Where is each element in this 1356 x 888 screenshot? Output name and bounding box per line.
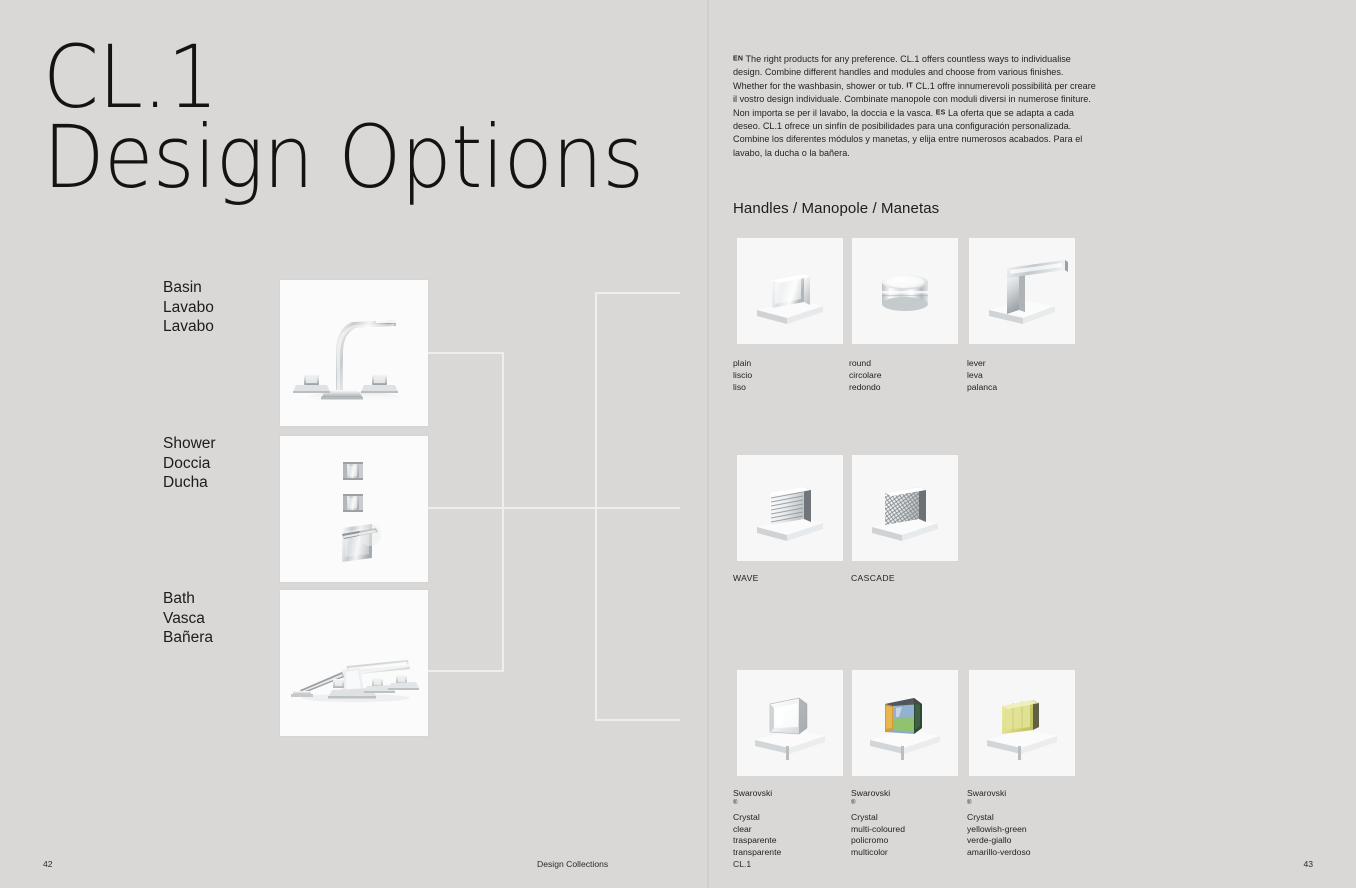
crystal-clear-product: Crystal — [733, 812, 781, 824]
crystal-multi-photo — [852, 670, 958, 776]
handle-plain-photo — [737, 238, 843, 344]
shower-module-photo — [280, 436, 428, 582]
handle-caption-lever: lever leva palanca — [967, 358, 997, 394]
intro-paragraph: EN The right products for any preference… — [733, 53, 1098, 160]
registered-mark-icon: ® — [967, 800, 971, 806]
registered-mark-icon: ® — [851, 800, 855, 806]
crystal-clear-photo — [737, 670, 843, 776]
crystal-yellow-product: Crystal — [967, 812, 1031, 824]
basin-mixer-photo — [280, 280, 428, 426]
footer-collection-label: CL.1 — [733, 859, 751, 869]
handle-cascade-photo — [852, 455, 958, 561]
page-title-line-2: Design Options — [43, 118, 644, 198]
category-bath-it: Vasca — [163, 609, 213, 629]
product-tile-bath[interactable] — [280, 590, 428, 736]
crystal-multi-brand: Swarovski — [851, 788, 905, 800]
handle-cascade-label: CASCADE — [851, 573, 895, 585]
product-tile-basin[interactable] — [280, 280, 428, 426]
crystal-clear-brand: Swarovski — [733, 788, 781, 800]
crystal-clear-title: Swarovski® Crystal — [733, 788, 781, 824]
handle-lever-es: palanca — [967, 382, 997, 394]
product-tile-shower[interactable] — [280, 436, 428, 582]
footer-section-label: Design Collections — [537, 859, 608, 869]
page-title: CL.1 Design Options — [43, 38, 644, 199]
handle-round-it: circolare — [849, 370, 881, 382]
category-label-bath: Bath Vasca Bañera — [163, 589, 213, 648]
handle-thumb-crystal-multi[interactable] — [852, 670, 958, 776]
category-shower-it: Doccia — [163, 454, 216, 474]
category-bath-es: Bañera — [163, 628, 213, 648]
crystal-yellow-en: yellowish-green — [967, 824, 1031, 836]
category-basin-es: Lavabo — [163, 317, 214, 337]
crystal-yellow-title: Swarovski® Crystal — [967, 788, 1031, 824]
category-basin-it: Lavabo — [163, 298, 214, 318]
handle-thumb-crystal-clear[interactable] — [737, 670, 843, 776]
handle-caption-plain: plain liscio liso — [733, 358, 752, 394]
handle-plain-it: liscio — [733, 370, 752, 382]
handle-thumb-lever[interactable] — [969, 238, 1075, 344]
handle-lever-photo — [969, 238, 1075, 344]
handle-plain-es: liso — [733, 382, 752, 394]
handle-thumb-crystal-yellow[interactable] — [969, 670, 1075, 776]
crystal-multi-title: Swarovski® Crystal — [851, 788, 905, 824]
handle-lever-it: leva — [967, 370, 997, 382]
handle-wave-label: WAVE — [733, 573, 759, 585]
crystal-yellow-it: verde-giallo — [967, 835, 1031, 847]
handle-caption-round: round circolare redondo — [849, 358, 881, 394]
connector-basin-bath — [428, 353, 503, 671]
handle-plain-en: plain — [733, 358, 752, 370]
registered-mark-icon: ® — [733, 800, 737, 806]
category-bath-en: Bath — [163, 589, 213, 609]
handle-thumb-wave[interactable] — [737, 455, 843, 561]
footer-page-number-left: 42 — [43, 859, 53, 869]
handle-thumb-round[interactable] — [852, 238, 958, 344]
category-shower-en: Shower — [163, 434, 216, 454]
handle-round-en: round — [849, 358, 881, 370]
crystal-multi-it: policromo — [851, 835, 905, 847]
crystal-clear-en: clear — [733, 824, 781, 836]
category-label-basin: Basin Lavabo Lavabo — [163, 278, 214, 337]
crystal-yellow-photo — [969, 670, 1075, 776]
lang-tag-en: EN — [733, 56, 743, 63]
crystal-yellow-brand: Swarovski — [967, 788, 1031, 800]
crystal-caption-yellow: Swarovski® Crystal yellowish-green verde… — [967, 788, 1031, 859]
spread-gutter — [707, 0, 709, 888]
lang-tag-it: IT — [906, 82, 913, 89]
handle-round-es: redondo — [849, 382, 881, 394]
category-basin-en: Basin — [163, 278, 214, 298]
crystal-multi-product: Crystal — [851, 812, 905, 824]
crystal-multi-es: multicolor — [851, 847, 905, 859]
handle-lever-en: lever — [967, 358, 997, 370]
crystal-multi-en: multi-coloured — [851, 824, 905, 836]
handle-thumb-plain[interactable] — [737, 238, 843, 344]
footer-page-number-right: 43 — [1303, 859, 1313, 869]
lang-tag-es: ES — [936, 109, 946, 116]
crystal-caption-multi: Swarovski® Crystal multi-coloured policr… — [851, 788, 905, 859]
handle-caption-wave: WAVE — [733, 573, 759, 585]
page-title-line-1: CL.1 — [43, 38, 644, 118]
bath-mixer-photo — [280, 590, 428, 736]
handle-wave-photo — [737, 455, 843, 561]
handle-round-photo — [852, 238, 958, 344]
category-shower-es: Ducha — [163, 473, 216, 493]
connector-hub — [596, 293, 680, 720]
crystal-clear-es: transparente — [733, 847, 781, 859]
page-spread: CL.1 Design Options EN The right product… — [0, 0, 1356, 888]
crystal-clear-it: trasparente — [733, 835, 781, 847]
handle-thumb-cascade[interactable] — [852, 455, 958, 561]
handles-section-heading: Handles / Manopole / Manetas — [733, 200, 939, 217]
crystal-caption-clear: Swarovski® Crystal clear trasparente tra… — [733, 788, 781, 859]
handle-caption-cascade: CASCADE — [851, 573, 895, 585]
category-label-shower: Shower Doccia Ducha — [163, 434, 216, 493]
crystal-yellow-es: amarillo-verdoso — [967, 847, 1031, 859]
